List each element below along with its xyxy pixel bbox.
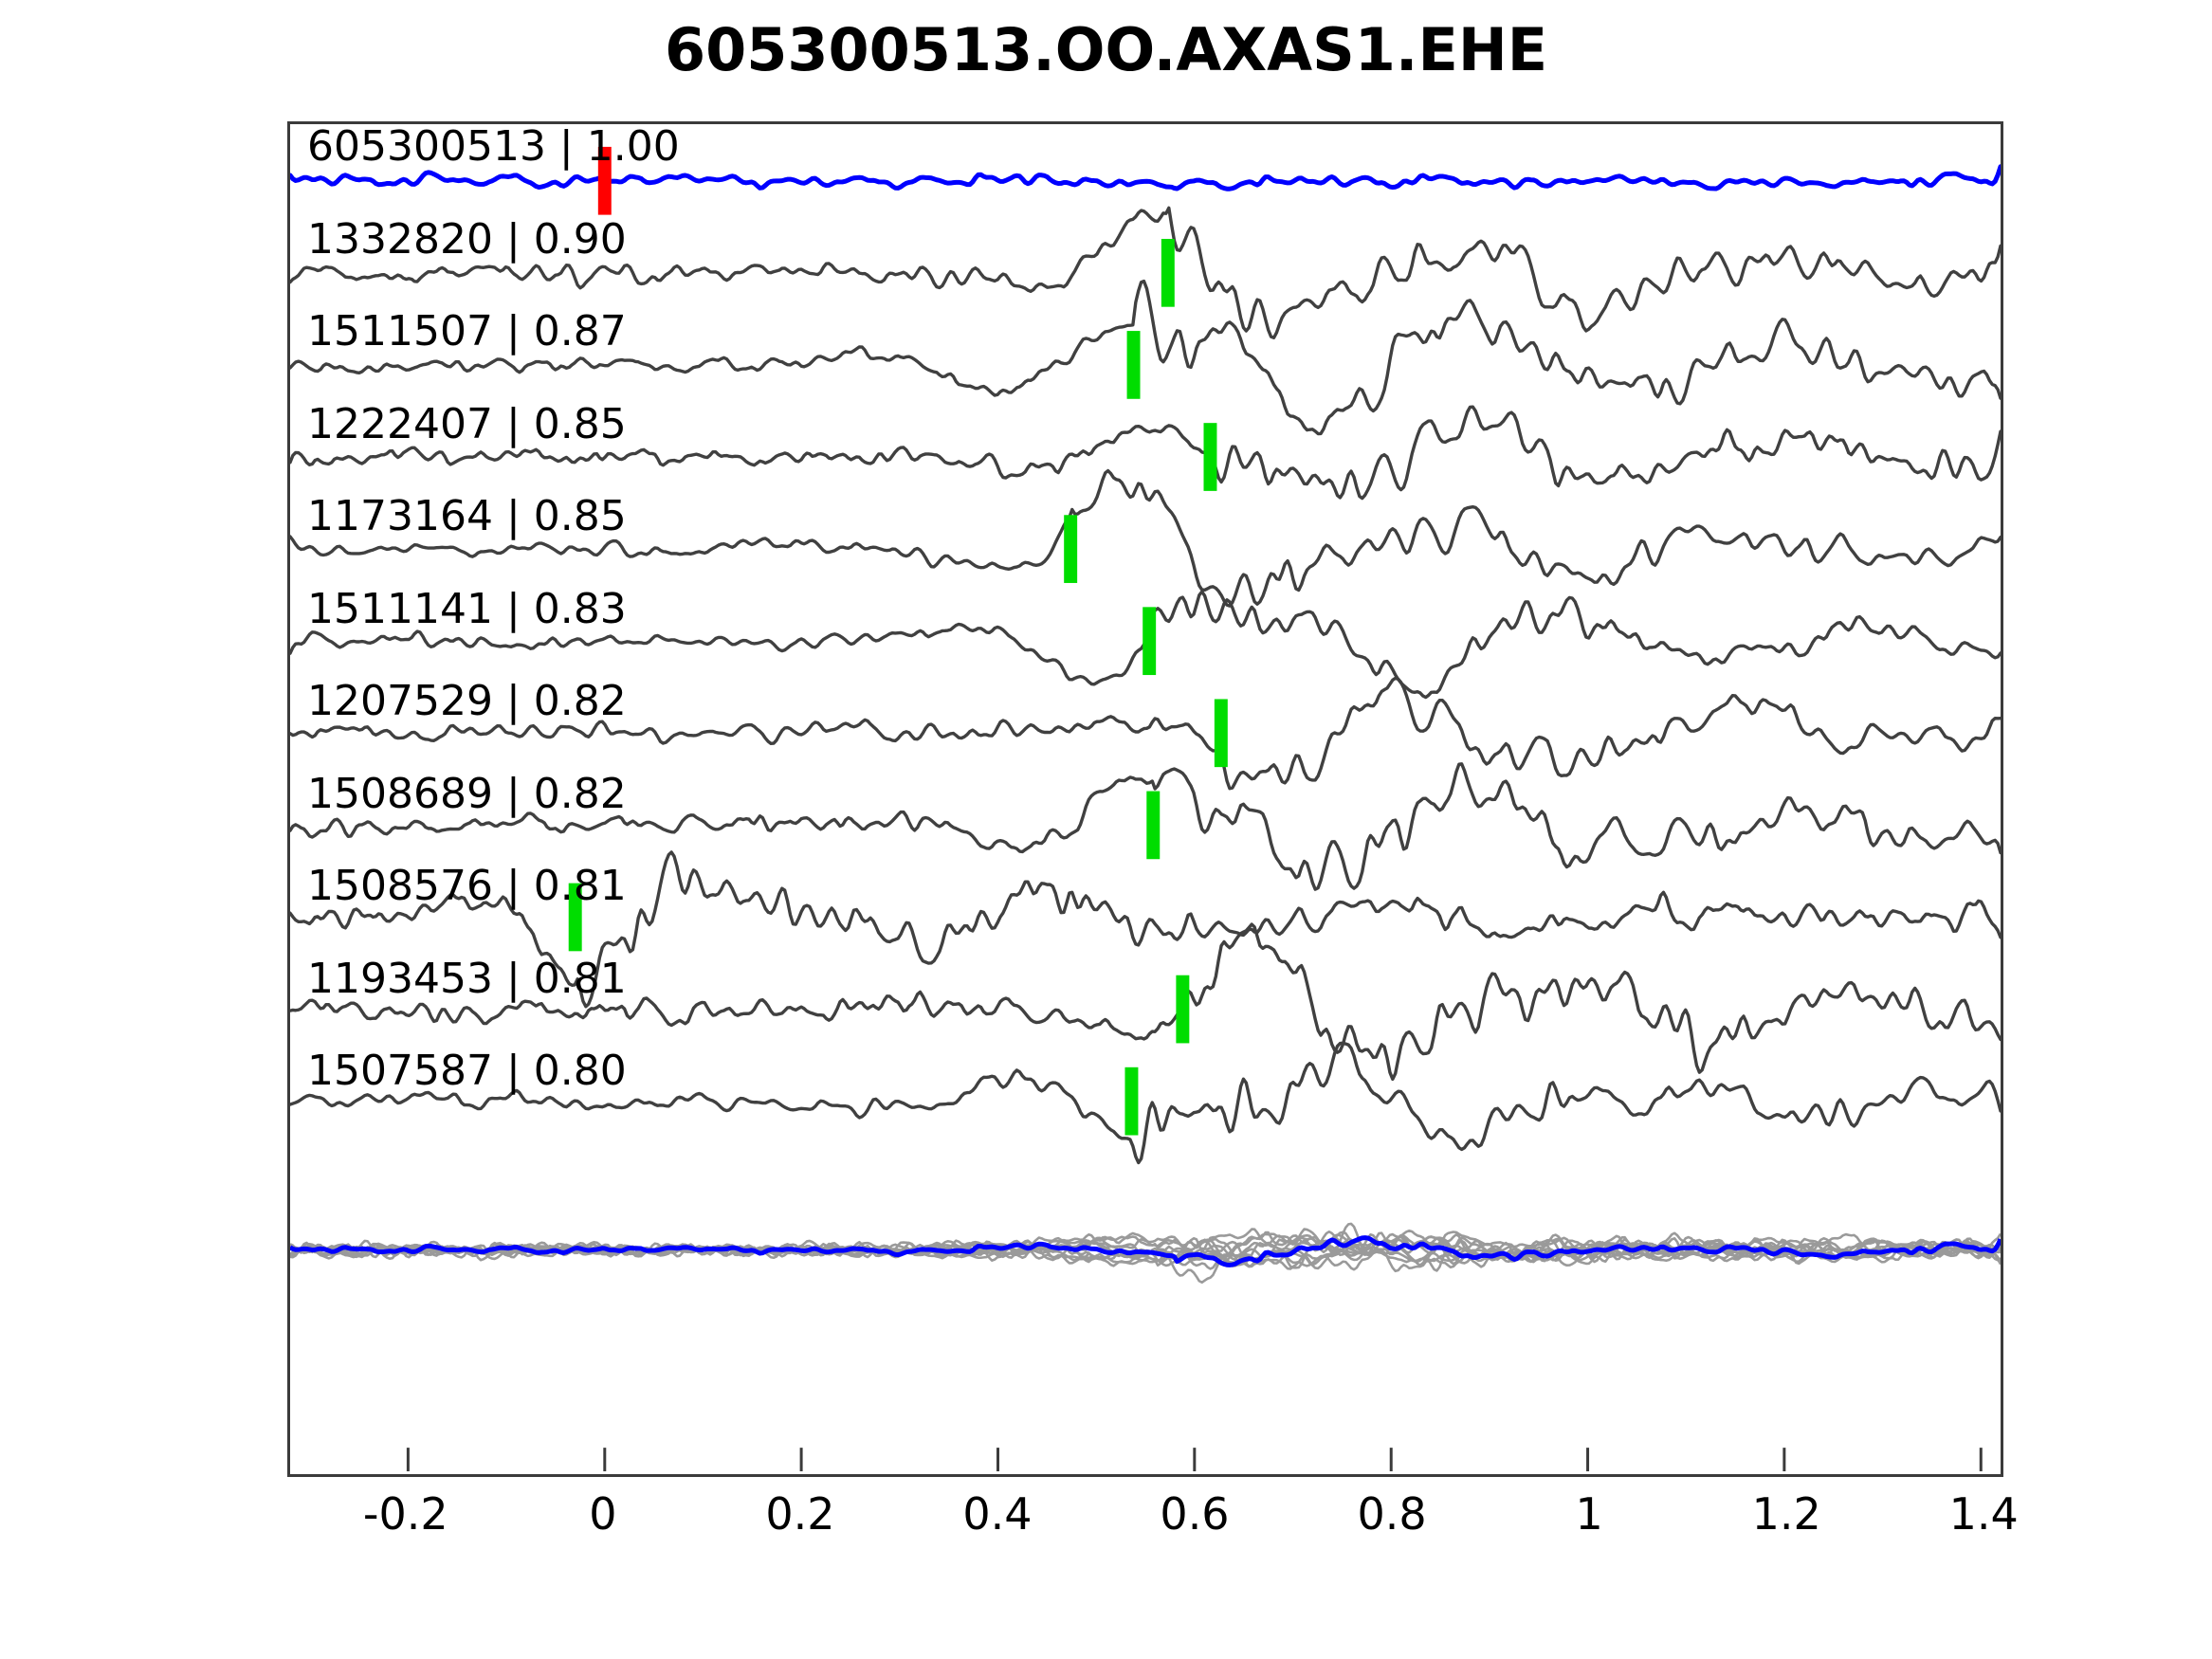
detection-pick-marker-1207529 — [1215, 699, 1228, 767]
x-tick-label-1: 0 — [589, 1488, 616, 1540]
detection-pick-marker-1511507 — [1127, 331, 1141, 399]
detection-pick-marker-1507587 — [1124, 1067, 1138, 1136]
x-tick-label-0: -0.2 — [363, 1488, 448, 1540]
detection-pick-marker-1173164 — [1064, 515, 1077, 583]
x-tick-label-4: 0.6 — [1160, 1488, 1229, 1540]
detection-pick-marker-1332820 — [1161, 239, 1175, 307]
trace-label-1507587: 1507587 | 0.80 — [307, 1047, 627, 1095]
x-axis-tick-labels: -0.200.20.40.60.811.21.4 — [287, 1488, 2003, 1564]
trace-label-1193453: 1193453 | 0.81 — [307, 955, 627, 1003]
trace-label-1511141: 1511141 | 0.83 — [307, 585, 627, 633]
x-tick-label-2: 0.2 — [765, 1488, 834, 1540]
trace-label-1508576: 1508576 | 0.81 — [307, 862, 627, 910]
x-tick-label-8: 1.4 — [1949, 1488, 2019, 1540]
x-tick-label-3: 0.4 — [962, 1488, 1032, 1540]
trace-label-605300513: 605300513 | 1.00 — [307, 122, 680, 171]
trace-label-1332820: 1332820 | 0.90 — [307, 215, 627, 264]
page-title: 605300513.OO.AXAS1.EHE — [0, 15, 2212, 84]
figure-root: 605300513.OO.AXAS1.EHE 605300513 | 1.001… — [0, 0, 2212, 1659]
waveform-plot-area: 605300513 | 1.001332820 | 0.901511507 | … — [287, 121, 2003, 1477]
trace-label-1511507: 1511507 | 0.87 — [307, 307, 627, 355]
trace-label-1222407: 1222407 | 0.85 — [307, 400, 627, 448]
x-tick-label-7: 1.2 — [1752, 1488, 1821, 1540]
trace-label-1508689: 1508689 | 0.82 — [307, 770, 627, 818]
detection-pick-marker-1222407 — [1203, 423, 1216, 491]
x-tick-label-6: 1 — [1575, 1488, 1602, 1540]
x-tick-label-5: 0.8 — [1357, 1488, 1426, 1540]
detection-pick-marker-1508689 — [1146, 792, 1160, 860]
detection-pick-marker-1193453 — [1176, 975, 1189, 1044]
trace-label-1207529: 1207529 | 0.82 — [307, 677, 627, 725]
detection-pick-marker-1511141 — [1143, 607, 1156, 675]
trace-label-1173164: 1173164 | 0.85 — [307, 492, 627, 540]
